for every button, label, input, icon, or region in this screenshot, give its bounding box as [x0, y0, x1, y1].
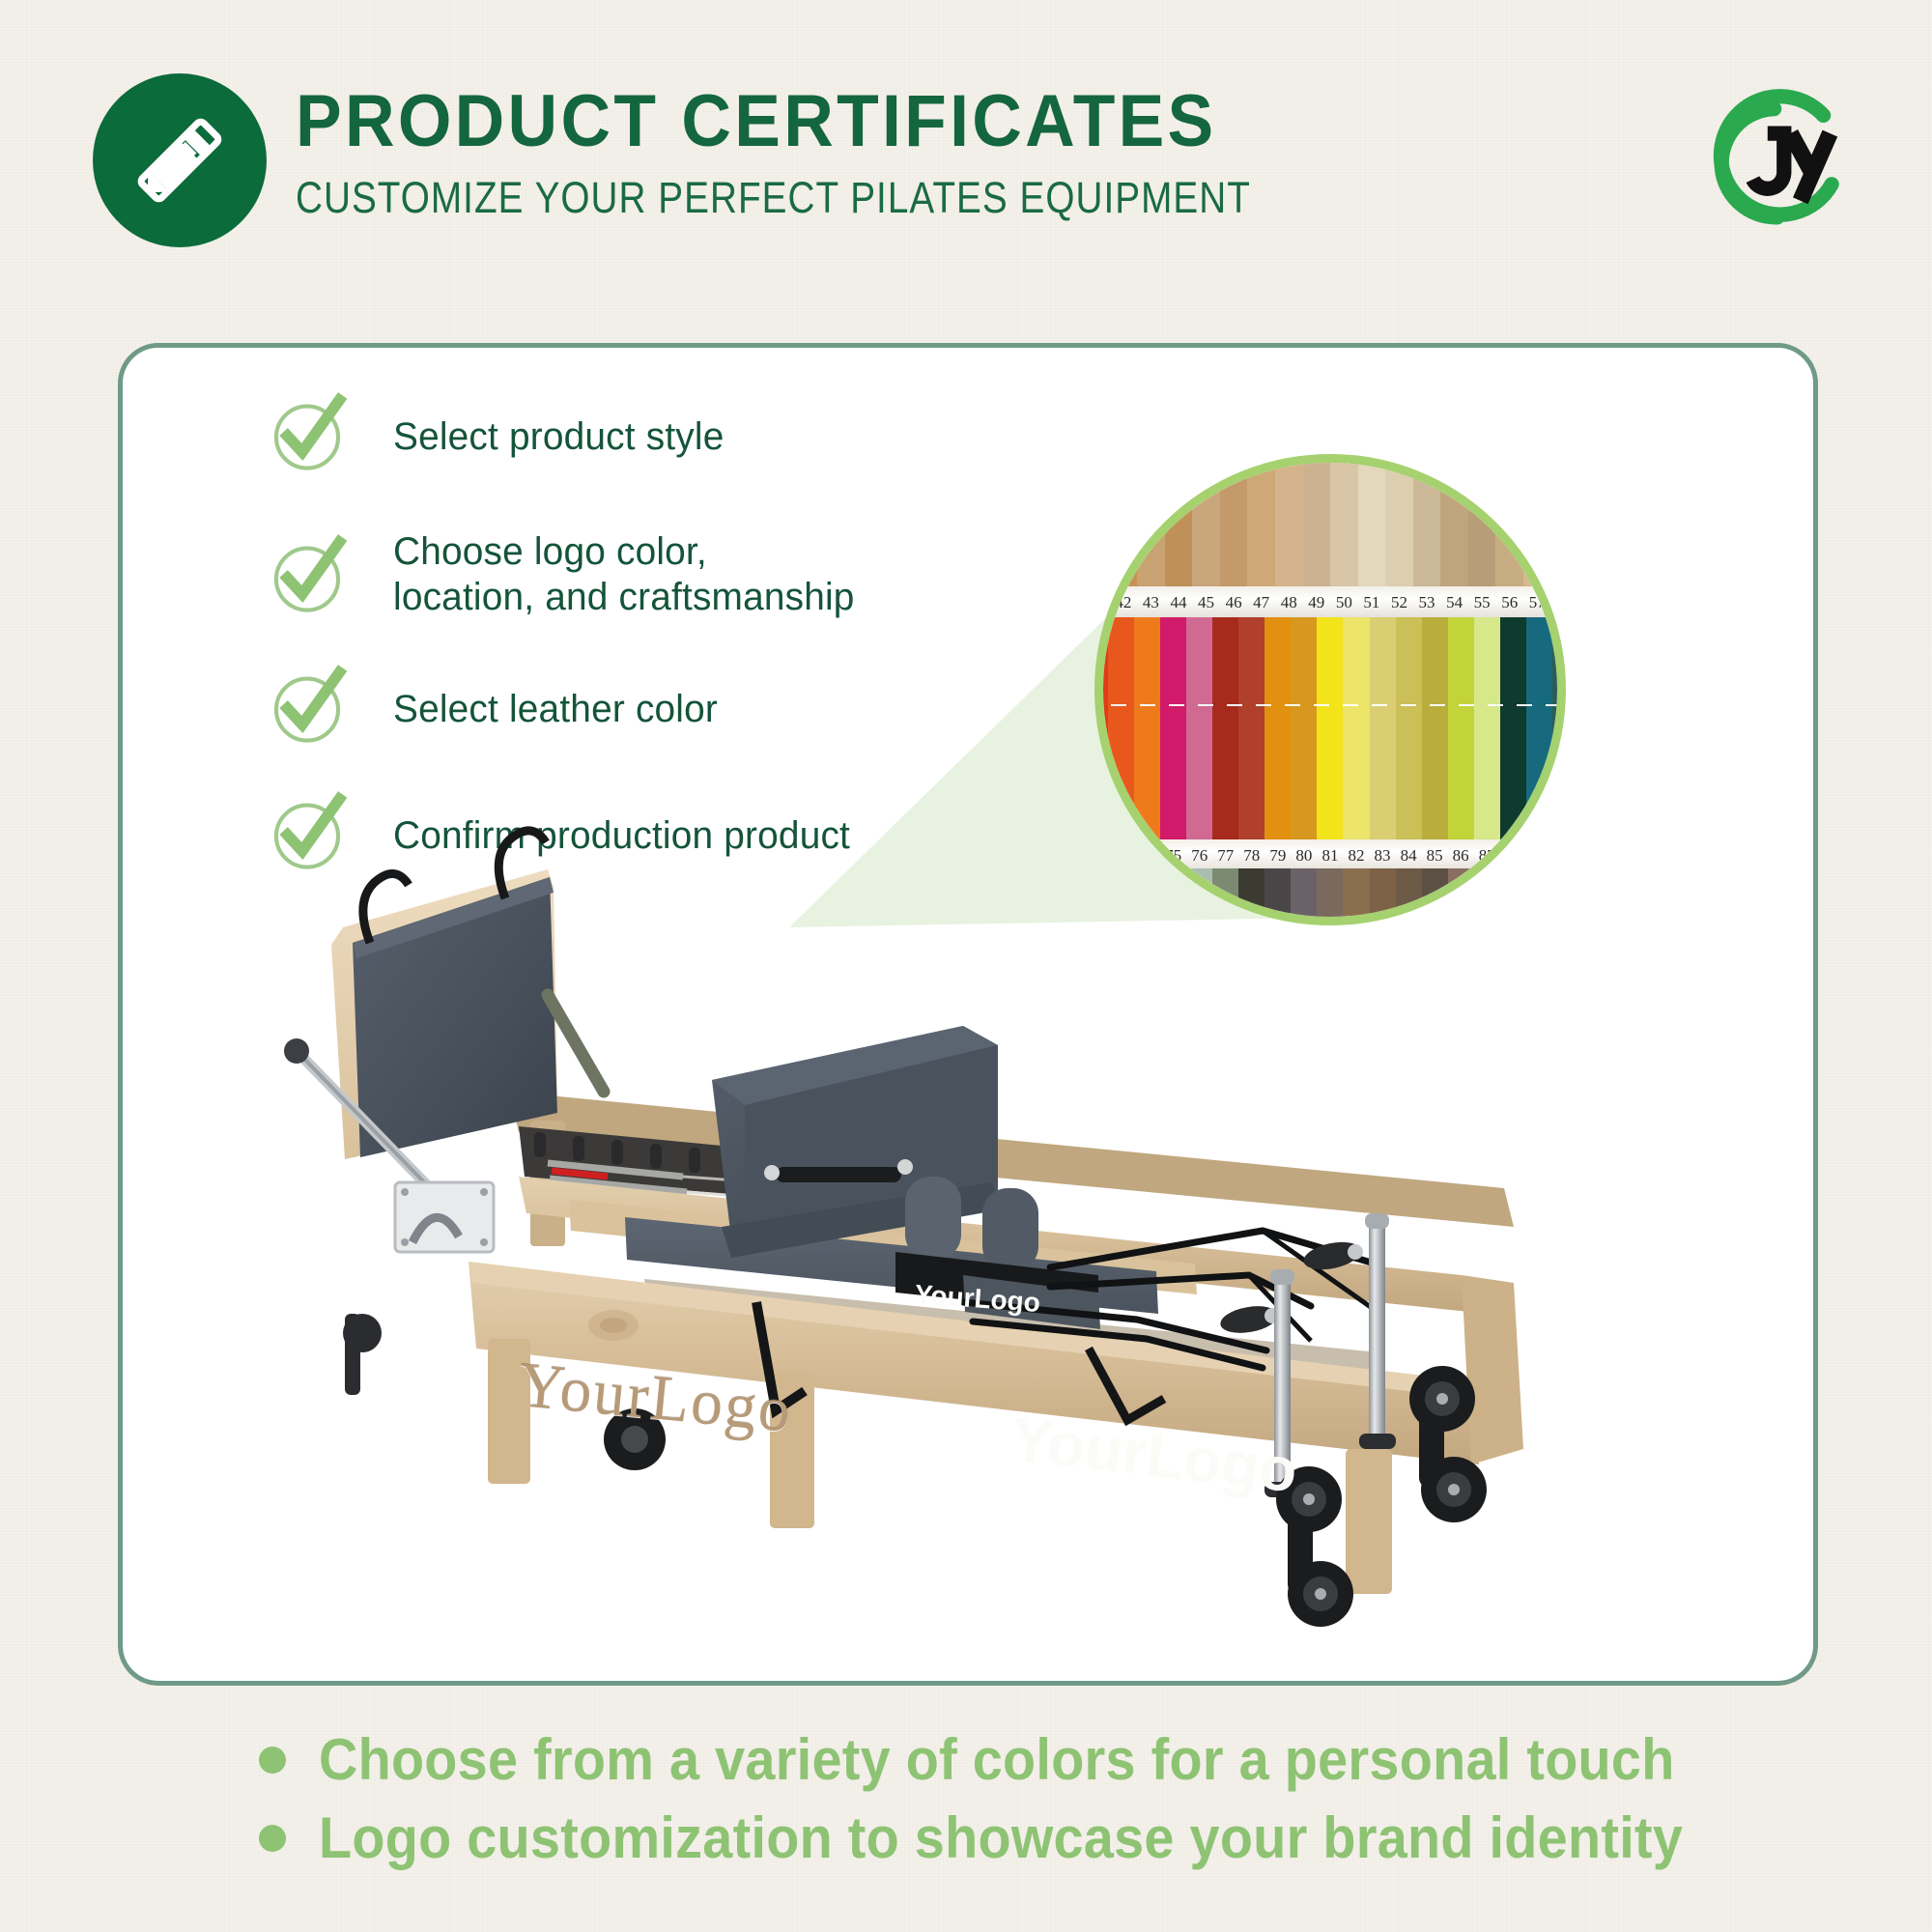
swatch-number: 53	[1413, 594, 1441, 611]
checklist-item-label: Choose logo color, location, and craftsm…	[393, 527, 855, 620]
swatch-cell	[1468, 463, 1496, 586]
footer-bullet-text: Logo customization to showcase your bran…	[319, 1807, 1683, 1868]
checklist-item-label: Select leather color	[393, 673, 718, 732]
checklist-item[interactable]: Select leather color	[268, 673, 982, 747]
pencil-ruler-icon	[93, 73, 267, 247]
page-header: PRODUCT CERTIFICATES CUSTOMIZE YOUR PERF…	[0, 0, 1932, 290]
page-subtitle: CUSTOMIZE YOUR PERFECT PILATES EQUIPMENT	[296, 176, 1251, 219]
swatch-cell	[1137, 463, 1165, 586]
swatch-cell	[1192, 463, 1220, 586]
swatch-number: 51	[1358, 594, 1386, 611]
swatch-cell	[1440, 463, 1468, 586]
page-title: PRODUCT CERTIFICATES	[296, 85, 1340, 158]
swatch-cell	[1385, 463, 1413, 586]
header-text-block: PRODUCT CERTIFICATES CUSTOMIZE YOUR PERF…	[296, 85, 1406, 219]
swatch-number: 47	[1247, 594, 1275, 611]
swatch-cell	[1523, 463, 1551, 586]
bullet-dot-icon	[259, 1747, 286, 1774]
swatch-number: 54	[1440, 594, 1468, 611]
swatch-number: 41	[1094, 594, 1110, 611]
swatch-number: 57	[1523, 594, 1551, 611]
check-circle-icon	[268, 537, 347, 616]
swatch-cell	[1220, 463, 1248, 586]
check-circle-icon	[268, 395, 347, 474]
swatch-cell	[1303, 463, 1331, 586]
swatch-number: 43	[1137, 594, 1165, 611]
swatch-number: 49	[1303, 594, 1331, 611]
swatch-number: 46	[1220, 594, 1248, 611]
content-card: Select product style Choose logo color, …	[118, 343, 1818, 1686]
swatch-number: 52	[1385, 594, 1413, 611]
swatch-cell	[1358, 463, 1386, 586]
pilates-reformer: YourLogo YourLogo YourLogo	[229, 773, 1736, 1662]
swatch-cell	[1247, 463, 1275, 586]
footer-bullets: Choose from a variety of colors for a pe…	[0, 1729, 1932, 1886]
swatch-number: 45	[1192, 594, 1220, 611]
footer-bullet-text: Choose from a variety of colors for a pe…	[319, 1729, 1675, 1790]
swatch-cell	[1094, 463, 1110, 586]
checklist-item[interactable]: Choose logo color, location, and craftsm…	[268, 527, 982, 620]
swatch-cell	[1495, 463, 1523, 586]
check-circle-icon	[268, 668, 347, 747]
swatch-number: 44	[1165, 594, 1193, 611]
swatch-cell	[1165, 463, 1193, 586]
swatch-number: 55	[1468, 594, 1496, 611]
footer-bullet-item: Choose from a variety of colors for a pe…	[259, 1729, 1932, 1790]
swatch-number: 42	[1110, 594, 1138, 611]
jy-brand-logo	[1695, 79, 1860, 243]
swatch-cell	[1110, 463, 1138, 586]
swatch-number: 50	[1330, 594, 1358, 611]
checklist-item[interactable]: Select product style	[268, 401, 982, 474]
swatch-cell	[1551, 463, 1566, 586]
bullet-dot-icon	[259, 1825, 286, 1852]
swatch-cell	[1330, 463, 1358, 586]
swatch-number: 48	[1275, 594, 1303, 611]
checklist-item-label: Select product style	[393, 401, 724, 460]
swatch-cell	[1413, 463, 1441, 586]
swatch-number: 5	[1551, 594, 1566, 611]
swatch-number: 56	[1495, 594, 1523, 611]
swatch-row-top	[1094, 463, 1566, 586]
swatch-ruler-top: 41424344454647484950515253545556575	[1094, 586, 1566, 617]
swatch-cell	[1275, 463, 1303, 586]
footer-bullet-item: Logo customization to showcase your bran…	[259, 1807, 1932, 1868]
